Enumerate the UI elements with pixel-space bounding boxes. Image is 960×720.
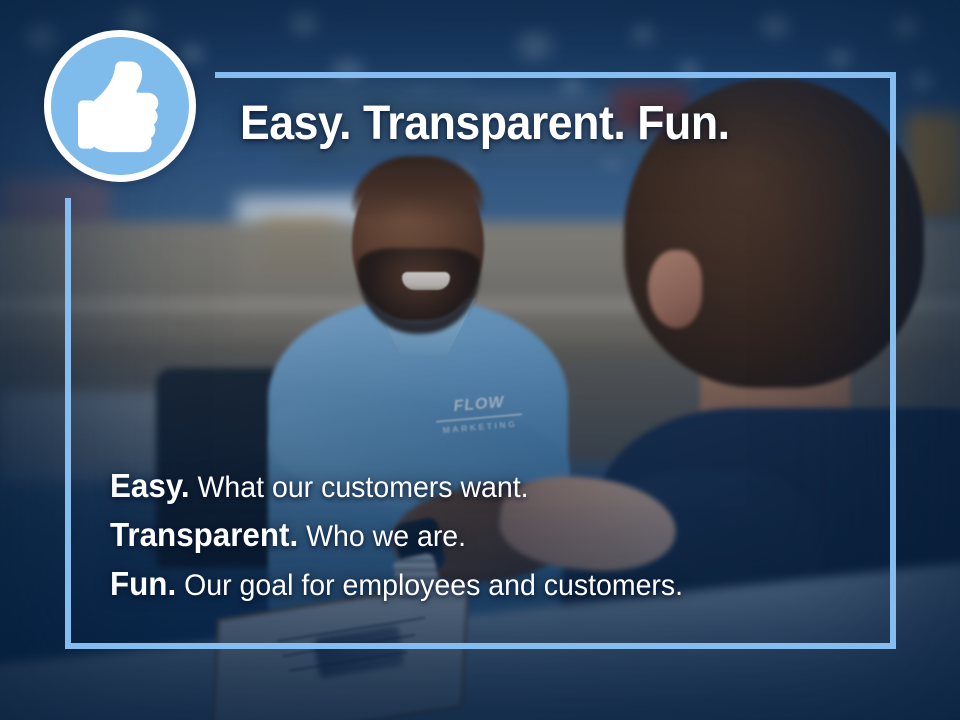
- value-statement-lead: Fun.: [110, 565, 176, 602]
- thumbs-up-badge: [44, 30, 196, 182]
- value-statement-row: Fun. Our goal for employees and customer…: [110, 560, 851, 609]
- value-statement-lead: Easy.: [110, 467, 190, 504]
- value-statement-text: What our customers want.: [198, 471, 529, 504]
- slide-canvas: FLOW MARKETING: [0, 0, 960, 720]
- value-statement-row: Easy. What our customers want.: [110, 462, 851, 511]
- page-title: Easy. Transparent. Fun.: [240, 100, 730, 148]
- value-statement-text: Our goal for employees and customers.: [184, 569, 683, 602]
- value-statement-row: Transparent. Who we are.: [110, 511, 851, 560]
- value-statement-list: Easy. What our customers want. Transpare…: [110, 462, 890, 609]
- thumbs-up-icon: [74, 58, 166, 154]
- value-statement-text: Who we are.: [306, 520, 466, 553]
- value-statement-lead: Transparent.: [110, 516, 298, 553]
